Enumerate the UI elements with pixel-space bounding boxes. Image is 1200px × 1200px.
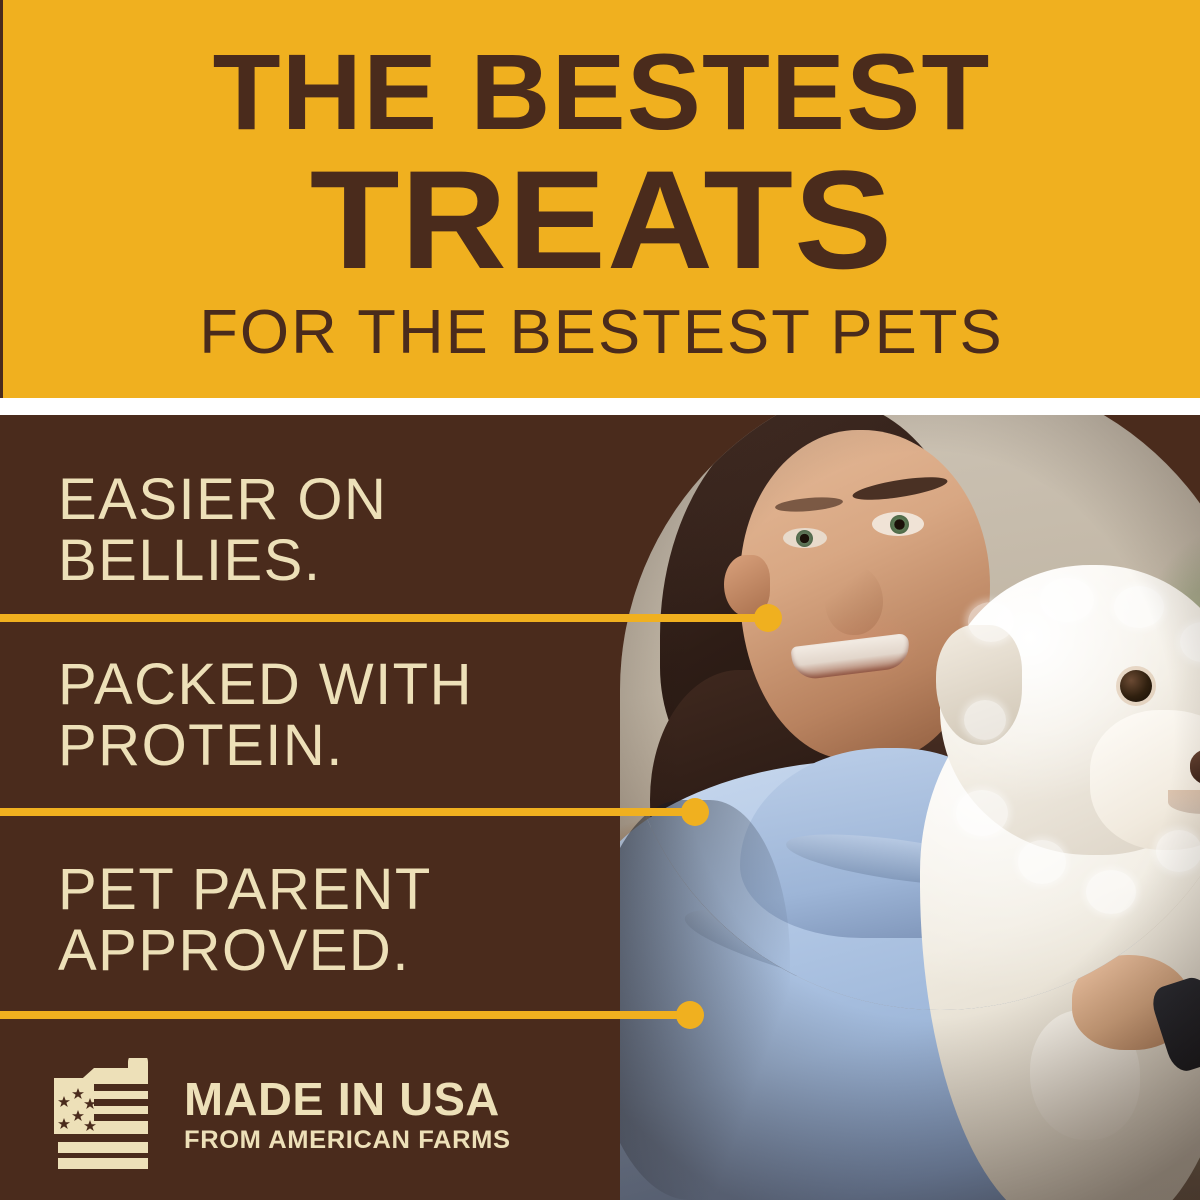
benefit-separator-line xyxy=(0,614,770,622)
product-photo xyxy=(620,370,1200,1010)
usa-barn-flag-icon xyxy=(52,1058,162,1170)
headline-line-2: TREATS xyxy=(0,150,1200,290)
dog-fur-curl xyxy=(1086,870,1136,914)
dog-fur-curl xyxy=(964,700,1006,740)
dog-fur-curl xyxy=(968,602,1014,642)
benefit-text-easier-on-bellies: EASIER ON BELLIES. xyxy=(58,470,387,592)
dog-fur-curl xyxy=(1114,586,1164,628)
separator-end-dot-icon xyxy=(681,798,709,826)
header-banner: THE BESTEST TREATS FOR THE BESTEST PETS xyxy=(0,0,1200,398)
photo-artwork xyxy=(620,370,1200,1010)
headline-line-1: THE BESTEST xyxy=(0,38,1200,146)
dog-eye xyxy=(1120,670,1152,702)
benefit-text-packed-with-protein: PACKED WITH PROTEIN. xyxy=(58,655,473,777)
badge-main-label: MADE IN USA xyxy=(184,1076,511,1122)
badge-text-group: MADE IN USA FROM AMERICAN FARMS xyxy=(184,1076,504,1153)
dog-fur-curl xyxy=(1040,578,1094,622)
dog-fur-curl xyxy=(956,790,1008,836)
benefit-text-pet-parent-approved: PET PARENT APPROVED. xyxy=(58,860,432,982)
separator-end-dot-icon xyxy=(754,604,782,632)
headline-subtitle: FOR THE BESTEST PETS xyxy=(0,302,1200,364)
separator-end-dot-icon xyxy=(676,1001,704,1029)
benefit-separator-line xyxy=(0,808,697,816)
header-divider-gap xyxy=(0,398,1200,415)
benefit-separator-line xyxy=(0,1011,692,1019)
eye xyxy=(872,512,924,536)
nose-shading xyxy=(825,565,883,635)
eye xyxy=(783,528,827,548)
dog-fur-curl xyxy=(1156,830,1200,872)
dog-fur-curl xyxy=(1018,840,1066,884)
ad-creative: THE BESTEST TREATS FOR THE BESTEST PETS … xyxy=(0,0,1200,1200)
badge-sub-label: FROM AMERICAN FARMS xyxy=(184,1128,511,1153)
made-in-usa-badge: MADE IN USA FROM AMERICAN FARMS xyxy=(52,1058,504,1170)
